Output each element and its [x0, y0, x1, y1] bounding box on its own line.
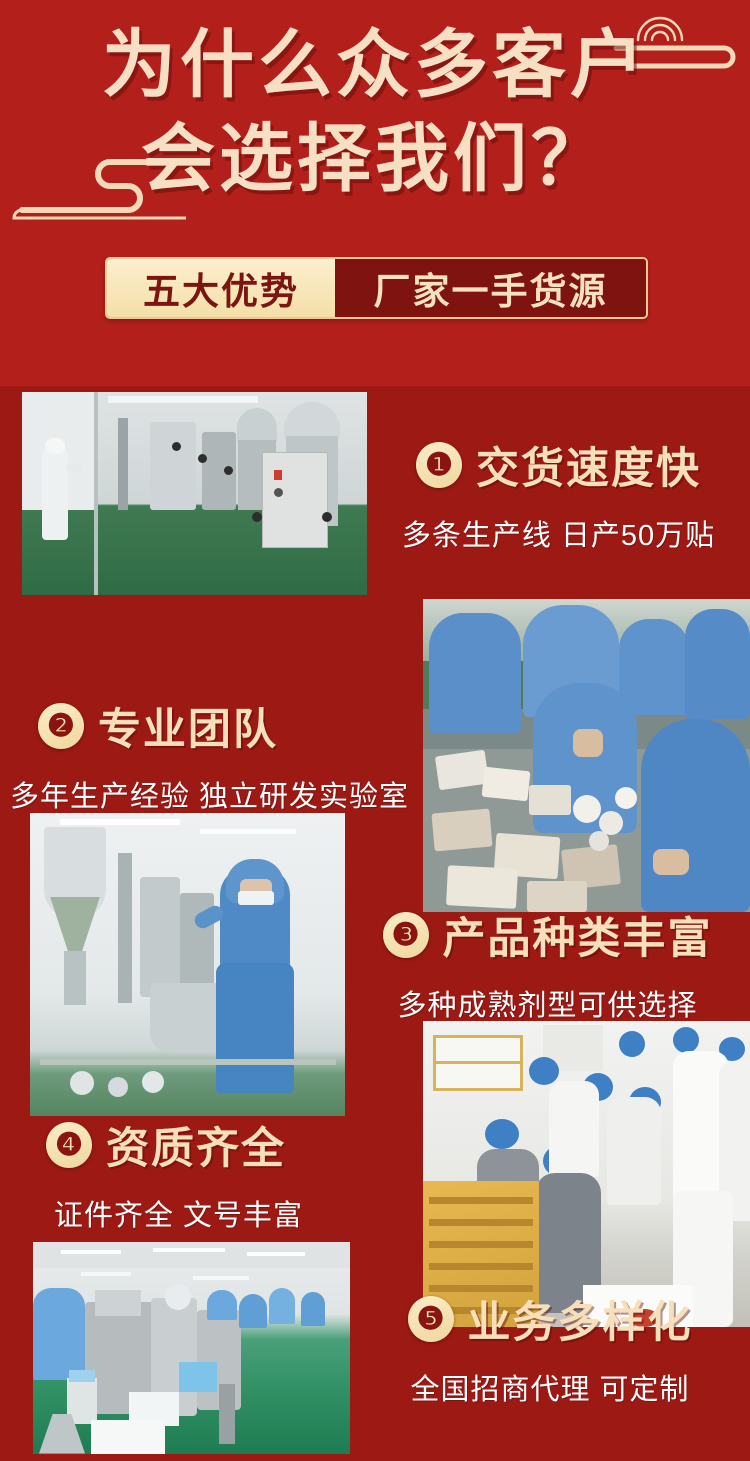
advantage-text-2: ❷ 专业团队 多年生产经验 独立研发实验室: [0, 695, 423, 815]
advantage-photo-1: [22, 392, 367, 595]
advantage-title-5: 业务多样化: [468, 1288, 693, 1350]
badge-factory-source: 厂家一手货源: [335, 259, 646, 317]
advantage-headline-5: ❺ 业务多样化: [408, 1288, 693, 1350]
promo-poster: 为什么众多客户 会选择我们？ 五大优势 厂家一手货源: [0, 0, 750, 1461]
advantage-text-4: ❹ 资质齐全 证件齐全 文号丰富: [0, 1114, 423, 1234]
advantage-number-badge-3: ❸: [383, 912, 429, 958]
header-title-block: 为什么众多客户 会选择我们？: [0, 22, 750, 204]
advantage-photo-5: [33, 1242, 350, 1454]
advantage-headline-2: ❷ 专业团队: [38, 695, 278, 757]
advantage-subtitle-4: 证件齐全 文号丰富: [54, 1192, 303, 1234]
advantage-subtitle-5: 全国招商代理 可定制: [410, 1366, 689, 1408]
advantage-subtitle-1: 多条生产线 日产50万贴: [402, 512, 715, 554]
advantage-number-badge-1: ❶: [416, 442, 462, 488]
advantages-list: ❶ 交货速度快 多条生产线 日产50万贴: [0, 386, 750, 1461]
advantage-title-2: 专业团队: [98, 695, 278, 757]
advantage-title-3: 产品种类丰富: [443, 904, 713, 966]
poster-header: 为什么众多客户 会选择我们？ 五大优势 厂家一手货源: [0, 0, 750, 386]
advantage-text-5: ❺ 业务多样化 全国招商代理 可定制: [350, 1288, 750, 1408]
advantage-text-3: ❸ 产品种类丰富 多种成熟剂型可供选择: [345, 904, 750, 1024]
advantage-text-1: ❶ 交货速度快 多条生产线 日产50万贴: [367, 434, 750, 554]
advantage-headline-1: ❶ 交货速度快: [416, 434, 701, 496]
advantage-row-1: ❶ 交货速度快 多条生产线 日产50万贴: [0, 386, 750, 601]
advantage-title-1: 交货速度快: [476, 434, 701, 496]
title-line-2: 会选择我们？: [0, 116, 750, 204]
advantage-number-badge-5: ❺: [408, 1296, 454, 1342]
advantage-number-badge-2: ❷: [38, 703, 84, 749]
badge-five-advantages: 五大优势: [107, 259, 335, 317]
advantage-badge-bar: 五大优势 厂家一手货源: [105, 257, 648, 319]
advantage-number-badge-4: ❹: [46, 1122, 92, 1168]
advantage-headline-3: ❸ 产品种类丰富: [383, 904, 713, 966]
advantage-headline-4: ❹ 资质齐全: [46, 1114, 286, 1176]
title-line-1: 为什么众多客户: [0, 22, 750, 110]
advantage-row-5: ❺ 业务多样化 全国招商代理 可定制: [0, 1234, 750, 1461]
advantage-title-4: 资质齐全: [106, 1114, 286, 1176]
